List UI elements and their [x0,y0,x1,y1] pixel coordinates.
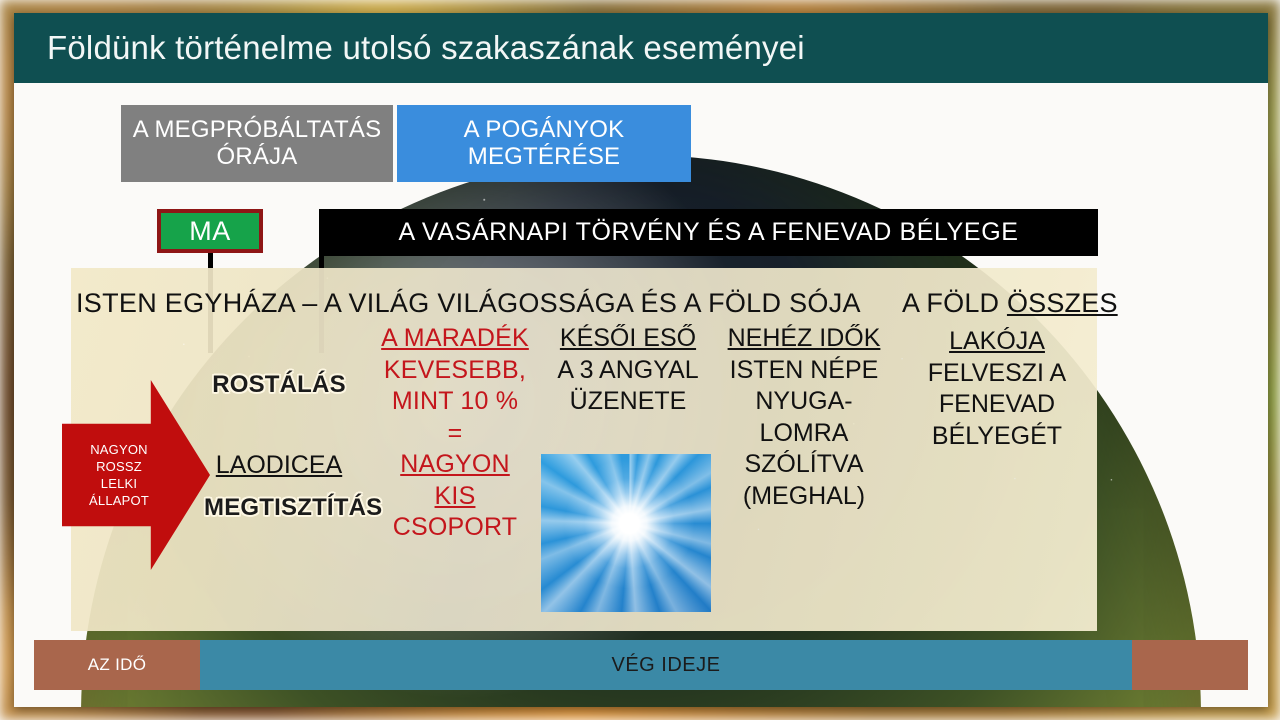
col3-heading: KÉSŐI ESŐ [549,323,707,355]
timeline-left-label: AZ IDŐ [34,640,200,690]
slide-title-bar: Földünk történelme utolsó szakaszának es… [14,13,1268,83]
column-remnant: A MARADÉK KEVESEBB, MINT 10 % = NAGYON K… [370,323,540,544]
col5-line3: BÉLYEGÉT [902,421,1092,453]
timeline-end-label: VÉG IDEJE [200,640,1132,690]
col4-line1: ISTEN NÉPE [720,355,888,387]
headline-left: ISTEN EGYHÁZA – A VILÁG VILÁGOSSÁGA ÉS A… [76,288,861,319]
slide-title: Földünk történelme utolsó szakaszának es… [14,29,805,67]
col2-line4: = [370,418,540,450]
col1-laodicea: LAODICEA [204,451,354,480]
col5-line2: FENEVAD [902,389,1092,421]
timeline-tail [1132,640,1248,690]
col2-line2: KEVESEBB, [370,355,540,387]
column-sifting: ROSTÁLÁS LAODICEA MEGTISZTÍTÁS [204,371,354,522]
arrow-label: NAGYON ROSSZ LELKI ÁLLAPOT [89,441,149,510]
col4-line3: LOMRA [720,418,888,450]
column-time-of-trouble: NEHÉZ IDŐK ISTEN NÉPE NYUGA- LOMRA SZÓLÍ… [720,323,888,512]
col1-megtisztitas: MEGTISZTÍTÁS [204,494,354,522]
headline-right-plain: A FÖLD [902,288,1007,318]
col4-line4: SZÓLÍTVA [720,449,888,481]
headline-right-underlined: ÖSSZES [1007,288,1118,318]
col3-line2: ÜZENETE [549,386,707,418]
column-mark-of-beast: LAKÓJA FELVESZI A FENEVAD BÉLYEGÉT [902,326,1092,452]
category-box-poganyok[interactable]: A POGÁNYOK MEGTÉRÉSE [397,105,691,182]
col2-line5: NAGYON [370,449,540,481]
col5-heading-line2: LAKÓJA [902,326,1092,358]
sunday-law-banner[interactable]: A VASÁRNAPI TÖRVÉNY ÉS A FENEVAD BÉLYEGE [319,209,1098,256]
sunburst-image [541,454,711,612]
col2-line3: MINT 10 % [370,386,540,418]
timeline-bar: AZ IDŐ VÉG IDEJE [34,640,1248,690]
column-latter-rain: KÉSŐI ESŐ A 3 ANGYAL ÜZENETE [549,323,707,418]
col2-line6: KIS [370,481,540,513]
col4-heading: NEHÉZ IDŐK [720,323,888,355]
col2-line1: A MARADÉK [370,323,540,355]
col5-line1: FELVESZI A [902,358,1092,390]
col1-rostalas: ROSTÁLÁS [204,371,354,399]
category-box-megprobaltatas[interactable]: A MEGPRÓBÁLTATÁS ÓRÁJA [121,105,393,182]
col2-line7: CSOPORT [370,512,540,544]
headline-right: A FÖLD ÖSSZES [902,288,1118,319]
col4-line2: NYUGA- [720,386,888,418]
presentation-slide: Földünk történelme utolsó szakaszának es… [14,13,1268,707]
col4-line5: (MEGHAL) [720,481,888,513]
col3-line1: A 3 ANGYAL [549,355,707,387]
today-marker-box[interactable]: MA [157,209,263,253]
